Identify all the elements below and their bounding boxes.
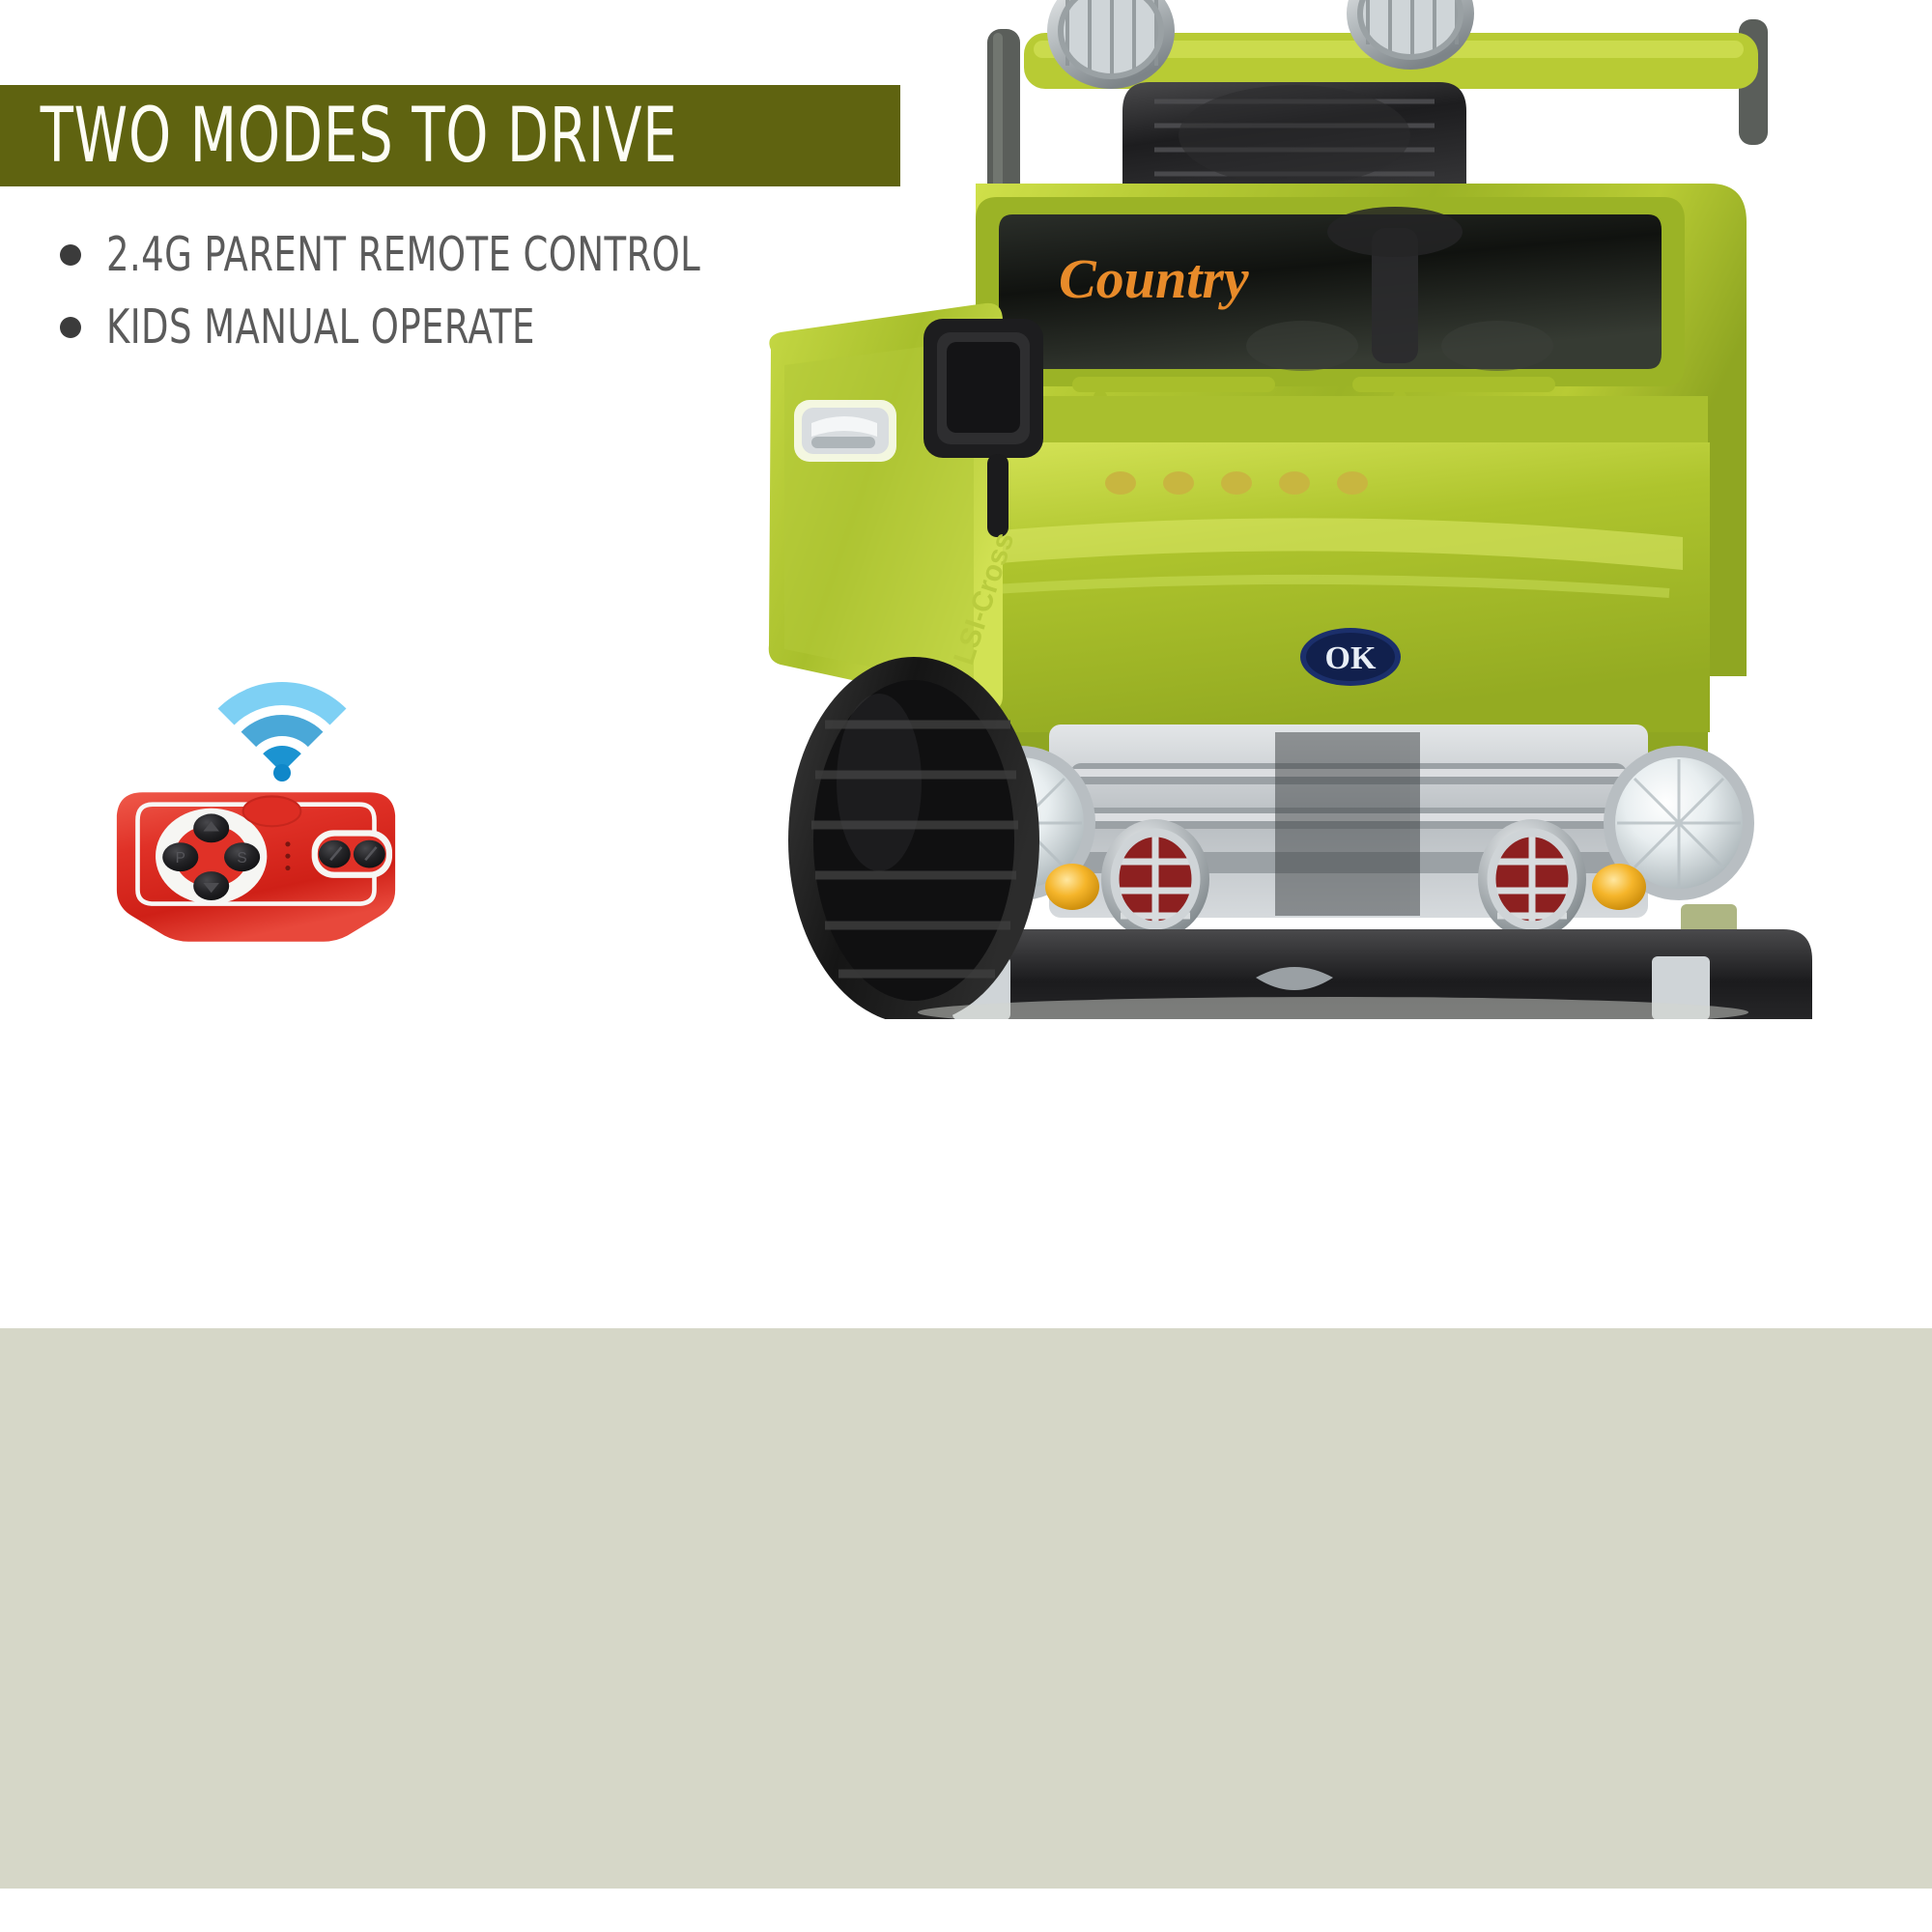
door-handle	[794, 400, 896, 462]
page-title: TWO MODES TO DRIVE	[0, 99, 678, 174]
hood-badge: OK	[1300, 628, 1401, 686]
remote-control-small: P S	[116, 782, 396, 952]
svg-text:P: P	[176, 850, 185, 867]
front-tire	[788, 657, 1039, 1019]
windshield-decal: Country	[1059, 247, 1249, 310]
ride-on-jeep-photo: Country	[734, 0, 1932, 1019]
jeep-body: Country	[976, 184, 1747, 732]
infographic-page: Country	[0, 0, 1932, 1932]
bullet-dot-icon	[60, 244, 81, 266]
svg-text:S: S	[237, 850, 246, 867]
bottom-white-strip	[0, 1889, 1932, 1932]
bullet-dot-icon	[60, 317, 81, 338]
feature-bullet-1: KIDS MANUAL OPERATE	[60, 302, 616, 353]
feature-bullet-0: 2.4G PARENT REMOTE CONTROL	[60, 230, 813, 280]
feature-label-0: 2.4G PARENT REMOTE CONTROL	[106, 230, 700, 280]
svg-text:OK: OK	[1325, 640, 1377, 676]
feature-label-1: KIDS MANUAL OPERATE	[106, 302, 535, 353]
remote-diagram-section: P S	[0, 1328, 1932, 1889]
wifi-signal-icon	[214, 676, 350, 782]
top-section: Country	[0, 0, 1932, 1328]
connection-button	[243, 796, 301, 826]
title-banner: TWO MODES TO DRIVE	[0, 85, 900, 186]
